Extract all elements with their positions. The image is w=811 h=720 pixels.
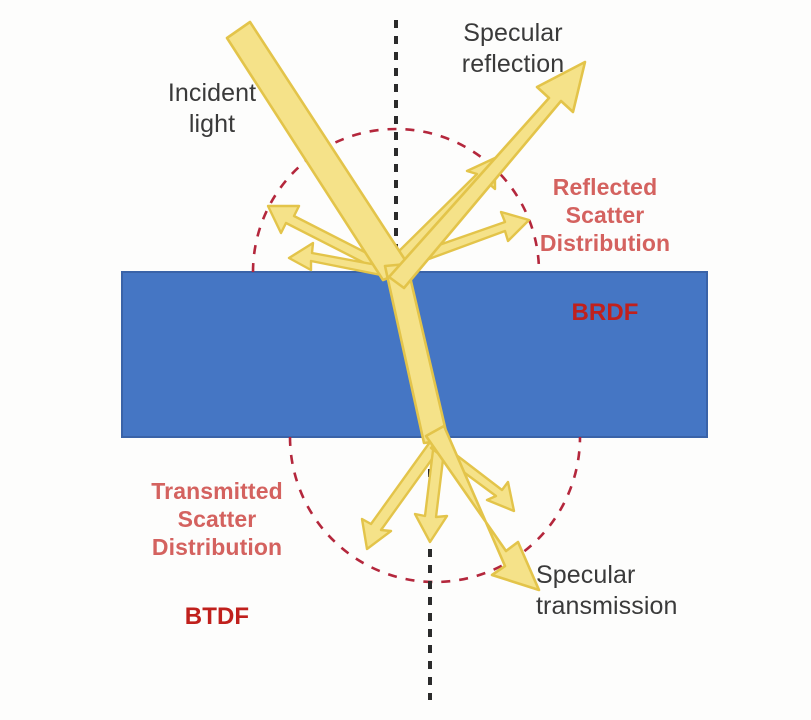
incident-light-beam bbox=[227, 22, 411, 280]
reflected-scatter-distribution-group: Reflected Scatter Distribution BRDF bbox=[510, 134, 700, 367]
specular-transmission-beam bbox=[426, 426, 539, 590]
btdf-acronym-label: BTDF bbox=[122, 602, 312, 631]
reflected-scatter-distribution-label: Reflected Scatter Distribution bbox=[510, 173, 700, 257]
specular-reflection-label: Specular reflection bbox=[418, 18, 608, 79]
transmitted-scatter-distribution-label: Transmitted Scatter Distribution bbox=[122, 477, 312, 561]
specular-transmission-label: Specular transmission bbox=[536, 560, 736, 621]
incident-light-label: Incident light bbox=[132, 78, 292, 139]
diagram-canvas: Incident light Specular reflection Specu… bbox=[0, 0, 811, 720]
transmitted-scatter-distribution-group: Transmitted Scatter Distribution BTDF bbox=[122, 438, 312, 671]
brdf-acronym-label: BRDF bbox=[510, 298, 700, 327]
